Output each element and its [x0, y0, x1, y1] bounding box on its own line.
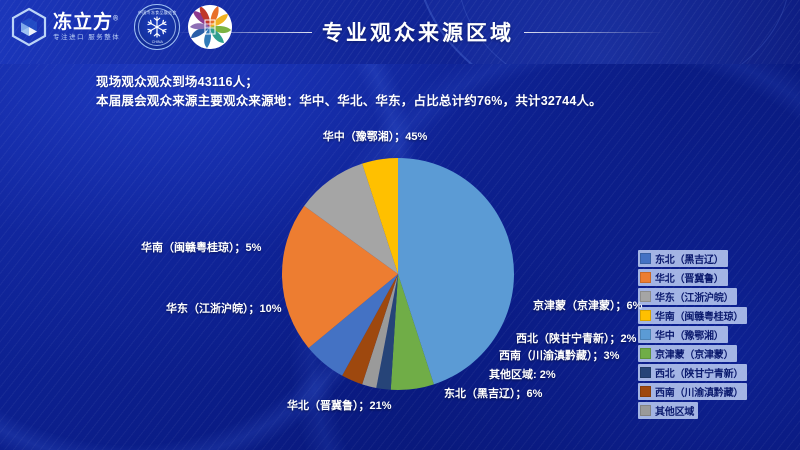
seal-bottom-label: CHINA	[135, 40, 179, 44]
registered-mark-icon: ®	[113, 15, 119, 22]
legend-item-label: 西北（陕甘宁青新）	[655, 365, 743, 380]
logo-donglifang-main-label: 冻立方	[53, 12, 113, 33]
legend-color-swatch	[640, 405, 651, 416]
logo-donglifang[interactable]: 冻立方® 专注进口 服务整体	[6, 4, 126, 50]
chart-legend: 东北（黑吉辽）华北（晋冀鲁）华东（江浙沪皖）华南（闽赣粤桂琼）华中（豫鄂湘）京津…	[638, 250, 747, 419]
summary-line-1: 现场观众观众到场43116人；	[96, 73, 602, 92]
pie-slice-label: 西北（陕甘宁青新）；2%	[516, 330, 636, 346]
pie-slice-label: 东北（黑吉辽）；6%	[444, 385, 542, 401]
legend-color-swatch	[640, 310, 651, 321]
legend-color-swatch	[640, 367, 651, 378]
pie-slice-label: 西南（川渝滇黔藏）；3%	[499, 347, 619, 363]
pie-slice-label: 华中（豫鄂湘）；45%	[323, 128, 428, 144]
logo-donglifang-name: 冻立方®	[53, 13, 120, 32]
legend-color-swatch	[640, 272, 651, 283]
logo-colorful-emblem[interactable]	[188, 5, 232, 49]
legend-item[interactable]: 西北（陕甘宁青新）	[638, 364, 747, 381]
legend-item-label: 华南（闽赣粤桂琼）	[655, 308, 743, 323]
legend-item[interactable]: 华中（豫鄂湘）	[638, 326, 728, 343]
pie-slice-label: 华南（闽赣粤桂琼）；5%	[141, 239, 261, 255]
legend-item[interactable]: 其他区域	[638, 402, 698, 419]
legend-item-label: 华中（豫鄂湘）	[655, 327, 724, 342]
seal-top-label: 中国冷冻食品展览会	[135, 10, 179, 16]
legend-color-swatch	[640, 348, 651, 359]
legend-color-swatch	[640, 386, 651, 397]
legend-item[interactable]: 东北（黑吉辽）	[638, 250, 728, 267]
legend-item-label: 华北（晋冀鲁）	[655, 270, 724, 285]
colorful-leaves-icon	[188, 5, 232, 49]
logo-donglifang-text: 冻立方® 专注进口 服务整体	[53, 13, 120, 42]
logo-snowflake-seal[interactable]: 中国冷冻食品展览会 CHINA	[134, 4, 180, 50]
legend-item-label: 东北（黑吉辽）	[655, 251, 724, 266]
summary-text: 现场观众观众到场43116人； 本届展会观众来源主要观众来源地：华中、华北、华东…	[96, 73, 602, 111]
pie-slice-label: 华东（江浙沪皖）；10%	[166, 300, 282, 316]
hexagon-cube-icon	[10, 7, 48, 47]
legend-item-label: 西南（川渝滇黔藏）	[655, 384, 743, 399]
summary-line-2: 本届展会观众来源主要观众来源地：华中、华北、华东，占比总计约76%，共计3274…	[96, 92, 602, 111]
logo-donglifang-tagline: 专注进口 服务整体	[53, 35, 120, 42]
legend-item[interactable]: 华北（晋冀鲁）	[638, 269, 728, 286]
pie-slice-label: 京津蒙（京津蒙）；6%	[533, 297, 642, 313]
legend-item-label: 京津蒙（京津蒙）	[655, 346, 733, 361]
legend-color-swatch	[640, 253, 651, 264]
legend-item[interactable]: 京津蒙（京津蒙）	[638, 345, 737, 362]
legend-color-swatch	[640, 291, 651, 302]
presentation-slide: 冻立方® 专注进口 服务整体 中国冷冻食品展览会 CHINA	[0, 0, 800, 450]
pie-slice-label: 其他区域: 2%	[489, 366, 556, 382]
pie-slice-label: 华北（晋冀鲁）；21%	[287, 397, 392, 413]
logo-row: 冻立方® 专注进口 服务整体 中国冷冻食品展览会 CHINA	[6, 4, 232, 50]
legend-color-swatch	[640, 329, 651, 340]
legend-item[interactable]: 华南（闽赣粤桂琼）	[638, 307, 747, 324]
legend-item[interactable]: 华东（江浙沪皖）	[638, 288, 737, 305]
legend-item-label: 其他区域	[655, 403, 694, 418]
legend-item-label: 华东（江浙沪皖）	[655, 289, 733, 304]
legend-item[interactable]: 西南（川渝滇黔藏）	[638, 383, 747, 400]
